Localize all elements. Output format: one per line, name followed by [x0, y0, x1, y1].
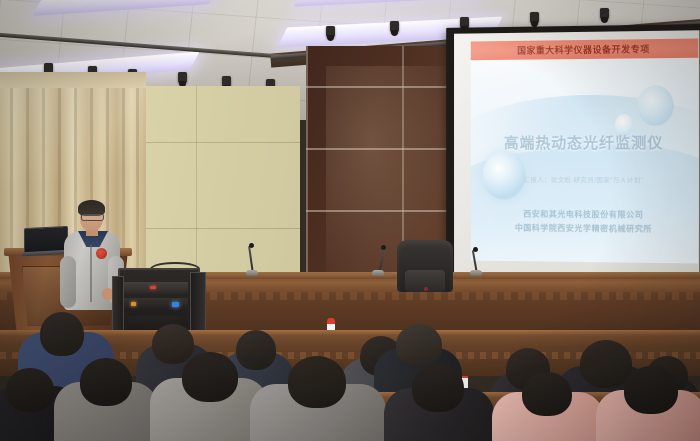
microphone-base [470, 270, 482, 276]
status-led-indicator [131, 302, 136, 306]
presiding-chair [397, 240, 453, 292]
presenter-zipper [90, 244, 92, 302]
track-spotlight-icon [600, 8, 609, 21]
presenter-logo-emblem [96, 248, 107, 259]
slide-organizations: 西安和其光电科技股份有限公司 中国科学院西安光学精密机械研究所 [471, 207, 698, 237]
microphone-head-icon [381, 245, 386, 250]
glasses-icon [81, 213, 104, 221]
slide-subtitle: 汇报人：张文松 研究员/国家“万人计划” [471, 174, 698, 185]
microphone-head-icon [249, 243, 254, 248]
track-spotlight-icon [530, 12, 539, 25]
slide-title: 高端热动态光纤监测仪 [471, 132, 698, 153]
microphone-head-icon [473, 247, 478, 252]
track-spotlight-icon [178, 72, 187, 85]
slide-bubble-decoration [637, 85, 674, 126]
power-led-indicator [150, 286, 156, 289]
chair-emblem [424, 287, 428, 291]
presentation-slide: 国家重大科学仪器设备开发专项 高端热动态光纤监测仪 汇报人：张文松 研究员/国家… [471, 39, 698, 264]
status-led-indicator [172, 302, 179, 307]
presenter-left-arm [60, 256, 76, 308]
slide-org-line-2: 中国科学院西安光学精密机械研究所 [471, 221, 698, 237]
rack-unit [124, 282, 188, 294]
slide-banner-text: 国家重大科学仪器设备开发专项 [471, 39, 698, 61]
track-spotlight-icon [390, 21, 399, 34]
microphone-base [246, 270, 258, 276]
conference-hall-photo: 国家重大科学仪器设备开发专项 高端热动态光纤监测仪 汇报人：张文松 研究员/国家… [0, 0, 700, 441]
microphone-base [372, 270, 384, 276]
track-spotlight-icon [326, 26, 335, 39]
audience-desk-surface [0, 330, 700, 336]
